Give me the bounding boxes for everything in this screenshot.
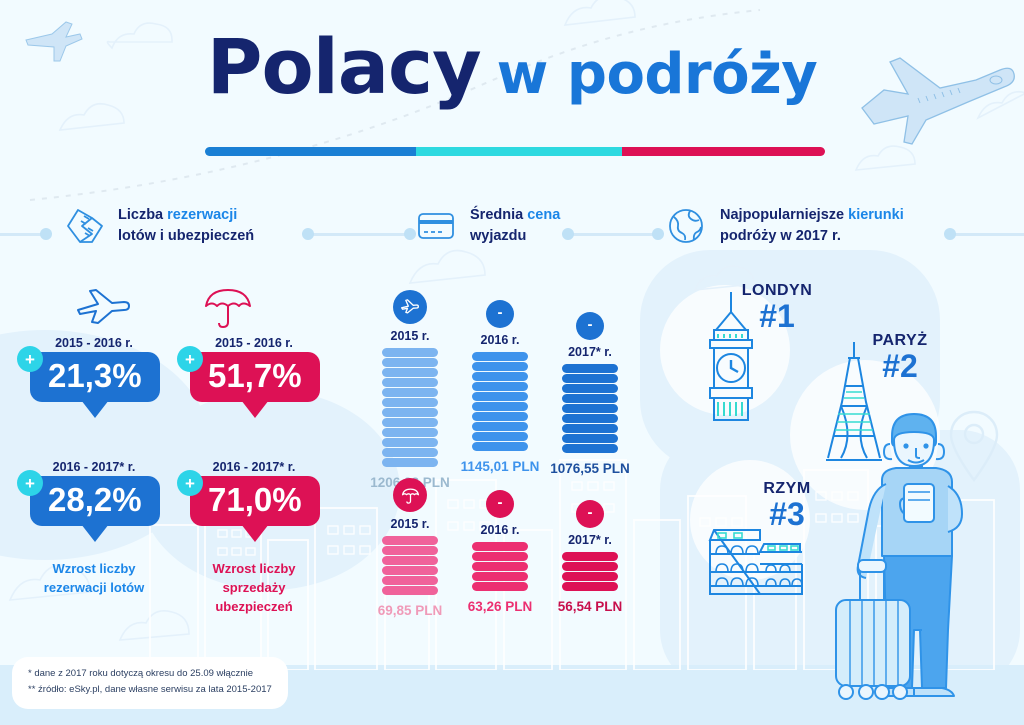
bar-segment bbox=[382, 546, 438, 555]
stat-value: 71,0% bbox=[208, 481, 302, 518]
stat-insurance-2015-2016: 2015 - 2016 r. + 51,7% bbox=[190, 336, 318, 402]
bar-segment bbox=[472, 542, 528, 551]
section-label-destinations: Najpopularniejsze kierunki podróży w 201… bbox=[720, 205, 904, 247]
bar-category-label: 2017* r. bbox=[535, 533, 645, 547]
minus-badge: - bbox=[486, 490, 514, 518]
stat-value: 21,3% bbox=[48, 357, 142, 394]
stat-caption-flights: Wzrost liczby rezerwacji lotów bbox=[30, 560, 158, 598]
credit-card-icon bbox=[414, 204, 458, 248]
bar-segment bbox=[562, 562, 618, 571]
bar-segment bbox=[382, 408, 438, 417]
bar-segment bbox=[382, 586, 438, 595]
section-label-plain-0: Liczba bbox=[118, 207, 167, 223]
bar-segment bbox=[562, 572, 618, 581]
bar-segment bbox=[382, 378, 438, 387]
destination-paris: PARYŻ #2 bbox=[840, 332, 960, 384]
traveler-illustration bbox=[828, 404, 1018, 700]
bar-segment bbox=[562, 374, 618, 383]
airplane-icon bbox=[74, 286, 126, 328]
infographic-canvas: Polacyw podróży Liczba bbox=[0, 0, 1024, 725]
plus-badge: + bbox=[177, 470, 203, 496]
section-label-reservations: Liczba rezerwacji lotów i ubezpieczeń bbox=[118, 205, 254, 247]
section-label-line2-1: wyjazdu bbox=[470, 228, 526, 244]
destination-rank: #1 bbox=[712, 300, 842, 334]
minus-badge: - bbox=[576, 500, 604, 528]
stat-year: 2016 - 2017* r. bbox=[190, 460, 318, 474]
stat-value: 51,7% bbox=[208, 357, 302, 394]
title-divider bbox=[205, 147, 825, 156]
bar-segment bbox=[472, 442, 528, 451]
stat-insurance-2016-2017: 2016 - 2017* r. + 71,0% Wzrost liczby sp… bbox=[190, 460, 318, 616]
stat-bubble: + 51,7% bbox=[190, 352, 320, 402]
bar-segment bbox=[472, 582, 528, 591]
stat-flights-2015-2016: 2015 - 2016 r. + 21,3% bbox=[30, 336, 158, 402]
section-header-reservations: Liczba rezerwacji lotów i ubezpieczeń bbox=[62, 204, 254, 248]
stat-bubble: + 21,3% bbox=[30, 352, 160, 402]
bar-segment bbox=[382, 368, 438, 377]
destination-london: LONDYN #1 bbox=[712, 282, 842, 334]
bar-segment bbox=[472, 352, 528, 361]
stat-year: 2016 - 2017* r. bbox=[30, 460, 158, 474]
section-header-price: Średnia cena wyjazdu bbox=[414, 204, 560, 248]
bar-stack bbox=[562, 364, 618, 453]
bar-segment bbox=[562, 582, 618, 591]
section-header-destinations: Najpopularniejsze kierunki podróży w 201… bbox=[664, 204, 904, 248]
stat-flights-2016-2017: 2016 - 2017* r. + 28,2% Wzrost liczby re… bbox=[30, 460, 158, 598]
bar-segment bbox=[382, 576, 438, 585]
bar-segment bbox=[472, 562, 528, 571]
destination-rank: #3 bbox=[732, 498, 842, 532]
destination-rank: #2 bbox=[840, 350, 960, 384]
bar-segment bbox=[382, 358, 438, 367]
stat-value: 28,2% bbox=[48, 481, 142, 518]
bar-segment bbox=[472, 432, 528, 441]
stat-year: 2015 - 2016 r. bbox=[30, 336, 158, 350]
minus-badge: - bbox=[576, 312, 604, 340]
bar-segment bbox=[472, 382, 528, 391]
bar-segment bbox=[382, 428, 438, 437]
bar-segment bbox=[382, 448, 438, 457]
bar-segment bbox=[472, 402, 528, 411]
bar-segment bbox=[382, 348, 438, 357]
bar-stack bbox=[472, 542, 528, 591]
section-label-highlight-0: rezerwacji bbox=[167, 207, 237, 223]
bar-segment bbox=[382, 388, 438, 397]
section-label-line2-2: podróży w 2017 r. bbox=[720, 228, 841, 244]
bar-segment bbox=[562, 434, 618, 443]
stat-caption-insurance: Wzrost liczby sprzedaży ubezpieczeń bbox=[190, 560, 318, 617]
umbrella-icon bbox=[202, 284, 254, 326]
bar-stack bbox=[562, 552, 618, 591]
section-label-highlight-1: cena bbox=[527, 207, 560, 223]
footnote-1: * dane z 2017 roku dotyczą okresu do 25.… bbox=[28, 666, 272, 683]
bar-segment bbox=[382, 536, 438, 545]
bar-stack bbox=[382, 536, 438, 595]
bar-segment bbox=[472, 422, 528, 431]
bar-segment bbox=[562, 394, 618, 403]
bar-segment bbox=[472, 372, 528, 381]
bar-segment bbox=[382, 556, 438, 565]
bar-group: -2017* r.56,54 PLN bbox=[535, 500, 645, 614]
stat-bubble: + 71,0% bbox=[190, 476, 320, 526]
bar-group: -2017* r.1076,55 PLN bbox=[535, 312, 645, 476]
destination-rome: RZYM #3 bbox=[732, 480, 842, 532]
bar-segment bbox=[562, 424, 618, 433]
footnotes: * dane z 2017 roku dotyczą okresu do 25.… bbox=[12, 657, 288, 709]
section-label-plain-2: Najpopularniejsze bbox=[720, 207, 848, 223]
section-label-plain-1: Średnia bbox=[470, 207, 527, 223]
bar-segment bbox=[562, 444, 618, 453]
section-label-price: Średnia cena wyjazdu bbox=[470, 205, 560, 247]
plus-badge: + bbox=[177, 346, 203, 372]
tickets-icon bbox=[62, 204, 106, 248]
bar-stack bbox=[472, 352, 528, 451]
minus-badge: - bbox=[486, 300, 514, 328]
bar-value-label: 56,54 PLN bbox=[535, 599, 645, 614]
bar-segment bbox=[562, 364, 618, 373]
bar-segment bbox=[472, 572, 528, 581]
globe-icon bbox=[664, 204, 708, 248]
bar-stack bbox=[382, 348, 438, 467]
bar-segment bbox=[472, 362, 528, 371]
bar-segment bbox=[382, 458, 438, 467]
section-label-line2-0: lotów i ubezpieczeń bbox=[118, 228, 254, 244]
plus-badge: + bbox=[17, 470, 43, 496]
bar-value-label: 1076,55 PLN bbox=[535, 461, 645, 476]
umbrella-icon bbox=[393, 478, 427, 512]
title-main: Polacy bbox=[207, 22, 481, 111]
plus-badge: + bbox=[17, 346, 43, 372]
stat-bubble: + 28,2% bbox=[30, 476, 160, 526]
bar-segment bbox=[472, 412, 528, 421]
stat-year: 2015 - 2016 r. bbox=[190, 336, 318, 350]
airplane-icon bbox=[393, 290, 427, 324]
bar-category-label: 2017* r. bbox=[535, 345, 645, 359]
bar-segment bbox=[382, 418, 438, 427]
bar-segment bbox=[382, 398, 438, 407]
bar-segment bbox=[562, 404, 618, 413]
section-label-highlight-2: kierunki bbox=[848, 207, 904, 223]
bar-segment bbox=[562, 414, 618, 423]
footnote-2: ** źródło: eSky.pl, dane własne serwisu … bbox=[28, 682, 272, 699]
bar-segment bbox=[562, 552, 618, 561]
bar-segment bbox=[382, 438, 438, 447]
bar-segment bbox=[562, 384, 618, 393]
bar-segment bbox=[472, 552, 528, 561]
title-sub: w podróży bbox=[497, 42, 818, 107]
page-title: Polacyw podróży bbox=[0, 22, 1024, 111]
bar-segment bbox=[472, 392, 528, 401]
bar-segment bbox=[382, 566, 438, 575]
